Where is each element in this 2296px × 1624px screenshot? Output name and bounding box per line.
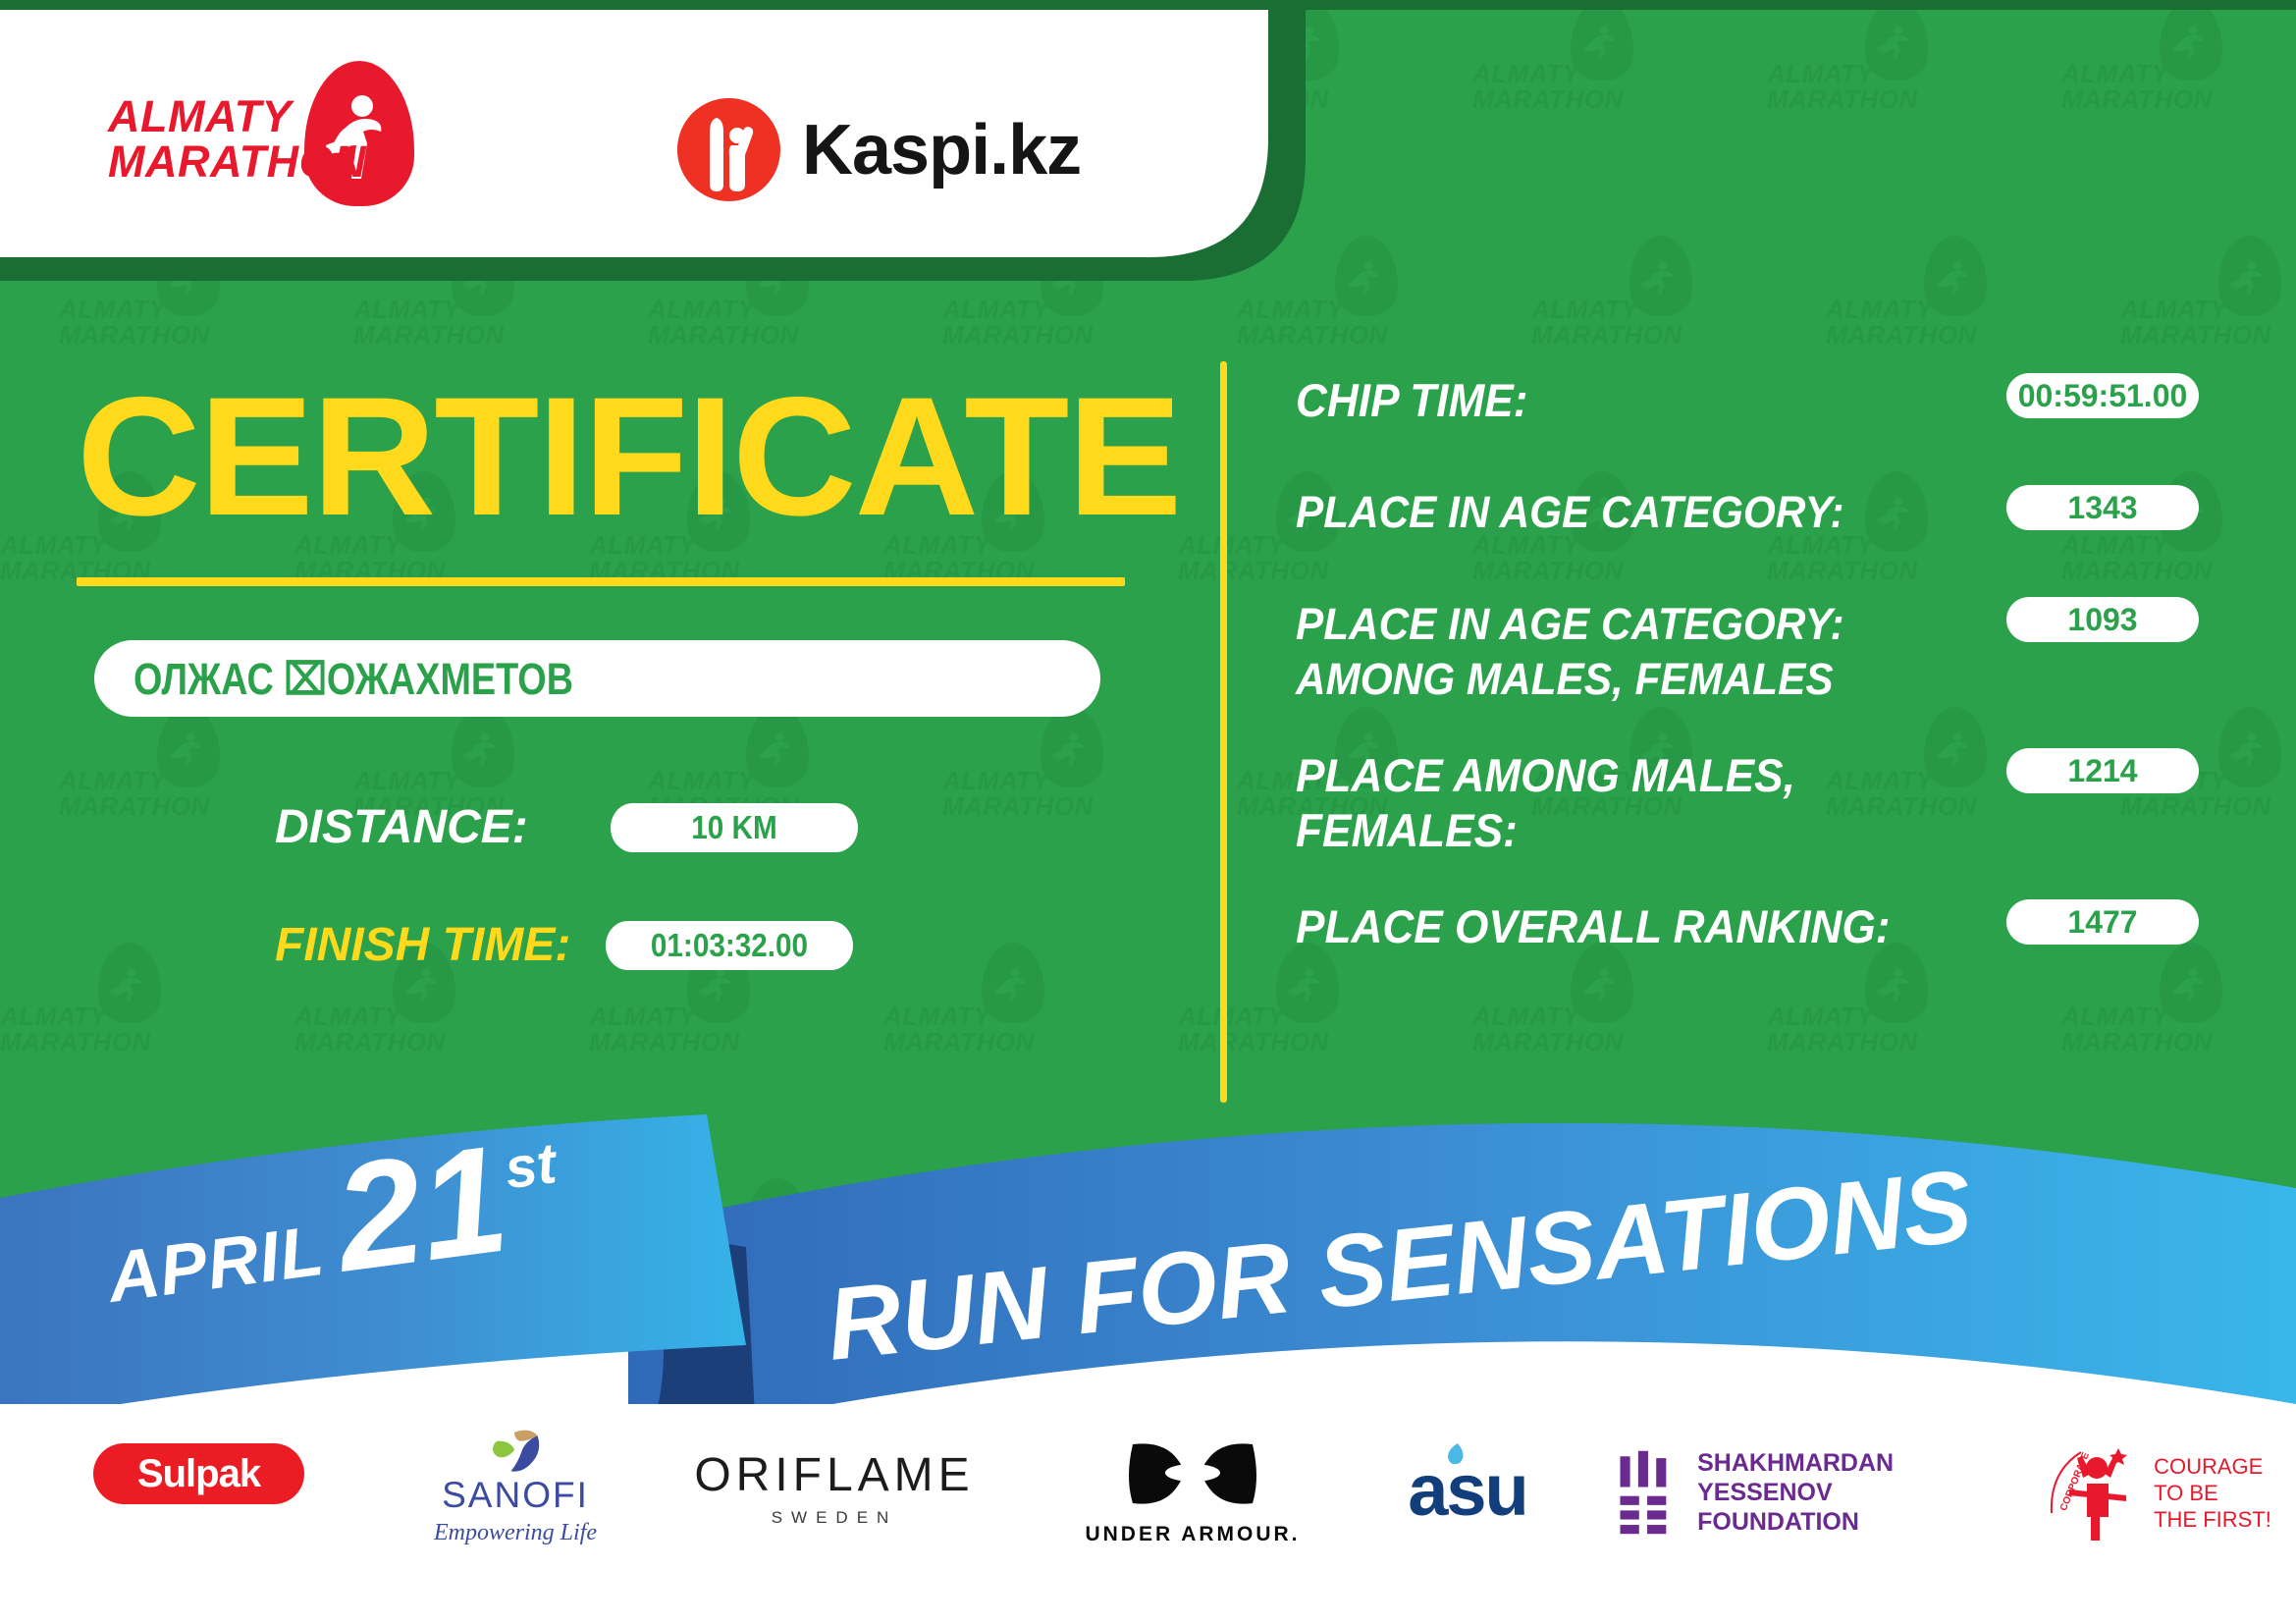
watermark-runner-icon xyxy=(1877,26,1916,59)
watermark-line1: ALMATY xyxy=(648,768,755,793)
sponsor-under-armour: UNDER ARMOUR. xyxy=(1075,1429,1310,1556)
watermark-runner-icon xyxy=(1288,968,1327,1001)
chip-time-label: CHIP TIME: xyxy=(1296,373,1527,428)
watermark-runner-icon xyxy=(1052,732,1092,766)
courage-line3: THE FIRST! xyxy=(2154,1506,2271,1533)
courage-runner-icon: CORPORATE xyxy=(2048,1438,2144,1546)
marathon-line2: MARATHON xyxy=(108,139,366,185)
sponsor-sanofi: SANOFI Empowering Life xyxy=(402,1429,628,1546)
watermark-line1: ALMATY xyxy=(1178,532,1285,558)
watermark-line2: MARATHON xyxy=(1767,86,1918,112)
yessenov-mark-icon xyxy=(1615,1447,1680,1538)
marathon-line1: ALMATY xyxy=(108,94,366,139)
results-table: CHIP TIME: 00:59:51.00 PLACE IN AGE CATE… xyxy=(1296,373,2199,954)
watermark-runner-icon xyxy=(169,732,208,766)
result-row-place-age: PLACE IN AGE CATEGORY: 1343 xyxy=(1296,485,2199,540)
place-mf-value: 1214 xyxy=(2006,748,2199,793)
under-armour-wordmark: UNDER ARMOUR. xyxy=(1085,1523,1300,1546)
watermark-line1: ALMATY xyxy=(942,768,1049,793)
watermark-line2: MARATHON xyxy=(1767,1029,1918,1055)
watermark-runner-icon xyxy=(2171,968,2211,1001)
sponsor-yessenov-foundation: SHAKHMARDAN YESSENOV FOUNDATION xyxy=(1615,1434,2007,1551)
top-accent-strip xyxy=(0,0,2296,10)
almaty-marathon-wordmark: ALMATY MARATHON xyxy=(108,94,366,185)
kaspi-logo: Kaspi.kz xyxy=(677,98,1081,201)
watermark-line1: ALMATY xyxy=(883,1003,990,1029)
column-divider xyxy=(1220,361,1227,1103)
watermark-runner-icon xyxy=(699,968,738,1001)
watermark-line1: ALMATY xyxy=(1531,297,1638,322)
yessenov-line1: SHAKHMARDAN YESSENOV xyxy=(1697,1448,2007,1507)
watermark-line1: ALMATY xyxy=(1178,1003,1285,1029)
watermark-tile: ALMATYMARATHON xyxy=(1767,943,1934,1090)
svg-text:CORPORATE: CORPORATE xyxy=(2058,1451,2092,1513)
overall-value: 1477 xyxy=(2006,899,2199,945)
watermark-runner-icon xyxy=(1936,261,1975,295)
watermark-runner-icon xyxy=(463,732,503,766)
watermark-tile: ALMATYMARATHON xyxy=(1178,943,1345,1090)
watermark-runner-icon xyxy=(758,732,797,766)
watermark-line2: MARATHON xyxy=(2061,1029,2213,1055)
watermark-runner-icon xyxy=(404,968,444,1001)
watermark-line1: ALMATY xyxy=(353,768,460,793)
watermark-tile: ALMATYMARATHON xyxy=(2120,236,2287,383)
yessenov-line2: FOUNDATION xyxy=(1697,1507,2007,1537)
place-mf-label: PLACE AMONG MALES, FEMALES: xyxy=(1296,748,1812,858)
watermark-line2: MARATHON xyxy=(2061,86,2213,112)
watermark-line1: ALMATY xyxy=(59,768,166,793)
distance-label: DISTANCE: xyxy=(275,800,528,854)
watermark-line1: ALMATY xyxy=(1826,297,1933,322)
courage-line2: TO BE xyxy=(2154,1480,2271,1506)
watermark-tile: ALMATYMARATHON xyxy=(1472,0,1639,147)
watermark-tile: ALMATYMARATHON xyxy=(59,707,226,854)
watermark-line2: MARATHON xyxy=(0,1029,151,1055)
ribbon-ordinal: st xyxy=(501,1130,560,1202)
sponsor-sulpak: Sulpak xyxy=(93,1443,304,1504)
watermark-line2: MARATHON xyxy=(294,1029,446,1055)
distance-value: 10 KM xyxy=(611,803,858,852)
kaspi-mark-icon xyxy=(677,98,780,201)
watermark-runner-icon xyxy=(1877,968,1916,1001)
watermark-line2: MARATHON xyxy=(59,322,210,348)
asu-drop-icon xyxy=(1442,1441,1468,1481)
watermark-line2: MARATHON xyxy=(1472,86,1624,112)
page-title: CERTIFICATE xyxy=(77,378,1180,535)
watermark-tile: ALMATYMARATHON xyxy=(883,943,1050,1090)
under-armour-logo-icon xyxy=(1119,1438,1266,1517)
watermark-runner-icon xyxy=(1582,26,1622,59)
overall-label: PLACE OVERALL RANKING: xyxy=(1296,899,1890,954)
sponsor-courage-fund: CORPORATE COURAGE TO BE THE FIRST! xyxy=(2037,1429,2282,1556)
ribbon-day: 21 xyxy=(329,1134,513,1282)
result-row-place-mf: PLACE AMONG MALES, FEMALES: 1214 xyxy=(1296,748,2199,858)
watermark-tile: ALMATYMARATHON xyxy=(0,943,167,1090)
watermark-line2: MARATHON xyxy=(353,322,505,348)
watermark-tile: ALMATYMARATHON xyxy=(2061,943,2228,1090)
place-age-label: PLACE IN AGE CATEGORY: xyxy=(1296,485,1844,540)
sanofi-wordmark: SANOFI xyxy=(442,1475,589,1516)
watermark-runner-icon xyxy=(2230,732,2269,766)
watermark-line2: MARATHON xyxy=(2120,322,2271,348)
watermark-runner-icon xyxy=(2230,261,2269,295)
watermark-line1: ALMATY xyxy=(589,1003,696,1029)
watermark-line1: ALMATY xyxy=(294,1003,401,1029)
watermark-line2: MARATHON xyxy=(589,1029,740,1055)
certificate-canvas: ALMATYMARATHONALMATYMARATHONALMATYMARATH… xyxy=(0,0,2296,1624)
athlete-name-field: ОЛЖАС ⌧ОЖАХМЕТОВ xyxy=(94,640,1100,717)
sanofi-mark-icon xyxy=(485,1429,546,1475)
title-underline xyxy=(77,577,1125,586)
watermark-tile: ALMATYMARATHON xyxy=(1531,236,1698,383)
watermark-line1: ALMATY xyxy=(1472,61,1579,86)
watermark-line1: ALMATY xyxy=(1472,1003,1579,1029)
watermark-line2: MARATHON xyxy=(1237,322,1388,348)
watermark-line2: MARATHON xyxy=(883,1029,1035,1055)
watermark-line1: ALMATY xyxy=(0,1003,107,1029)
athlete-name-value: ОЛЖАС ⌧ОЖАХМЕТОВ xyxy=(133,653,573,705)
watermark-line2: MARATHON xyxy=(942,322,1094,348)
place-age-mf-label: PLACE IN AGE CATEGORY: AMONG MALES, FEMA… xyxy=(1296,597,1887,707)
result-row-place-age-mf: PLACE IN AGE CATEGORY: AMONG MALES, FEMA… xyxy=(1296,597,2199,707)
watermark-runner-icon xyxy=(1582,968,1622,1001)
watermark-runner-icon xyxy=(110,968,149,1001)
watermark-line2: MARATHON xyxy=(648,322,799,348)
result-row-overall: PLACE OVERALL RANKING: 1477 xyxy=(1296,899,2199,954)
watermark-runner-icon xyxy=(2171,26,2211,59)
courage-line1: COURAGE xyxy=(2154,1453,2271,1480)
result-row-chip-time: CHIP TIME: 00:59:51.00 xyxy=(1296,373,2199,428)
finish-time-label: FINISH TIME: xyxy=(275,918,570,972)
sulpak-wordmark: Sulpak xyxy=(137,1452,260,1496)
watermark-runner-icon xyxy=(1641,261,1681,295)
watermark-tile: ALMATYMARATHON xyxy=(2061,0,2228,147)
watermark-line2: MARATHON xyxy=(1531,322,1682,348)
watermark-line2: MARATHON xyxy=(1472,1029,1624,1055)
watermark-line2: MARATHON xyxy=(942,793,1094,819)
sponsor-asu: asu xyxy=(1369,1435,1566,1543)
watermark-line2: MARATHON xyxy=(59,793,210,819)
watermark-tile: ALMATYMARATHON xyxy=(942,707,1109,854)
almaty-marathon-logo: ALMATY MARATHON xyxy=(108,61,432,189)
oriflame-sub: SWEDEN xyxy=(772,1508,898,1528)
chip-time-value: 00:59:51.00 xyxy=(2006,373,2199,418)
sponsor-oriflame: ORIFLAME SWEDEN xyxy=(687,1443,982,1532)
row-finish-time: FINISH TIME: 01:03:32.00 xyxy=(275,918,867,972)
kaspi-wordmark: Kaspi.kz xyxy=(802,110,1081,190)
place-age-value: 1343 xyxy=(2006,485,2199,530)
watermark-tile: ALMATYMARATHON xyxy=(1767,0,1934,147)
watermark-line1: ALMATY xyxy=(1767,1003,1874,1029)
row-distance: DISTANCE: 10 KM xyxy=(275,800,872,854)
watermark-tile: ALMATYMARATHON xyxy=(1472,943,1639,1090)
sanofi-tagline: Empowering Life xyxy=(434,1520,597,1546)
watermark-line1: ALMATY xyxy=(2120,297,2227,322)
watermark-line1: ALMATY xyxy=(1767,61,1874,86)
watermark-line1: ALMATY xyxy=(2061,1003,2168,1029)
watermark-tile: ALMATYMARATHON xyxy=(1826,236,1993,383)
watermark-line2: MARATHON xyxy=(1826,322,1977,348)
watermark-line2: MARATHON xyxy=(1178,1029,1329,1055)
finish-time-value: 01:03:32.00 xyxy=(606,921,853,970)
oriflame-wordmark: ORIFLAME xyxy=(694,1448,974,1502)
place-age-mf-value: 1093 xyxy=(2006,597,2199,642)
watermark-line1: ALMATY xyxy=(2061,61,2168,86)
watermark-runner-icon xyxy=(993,968,1033,1001)
